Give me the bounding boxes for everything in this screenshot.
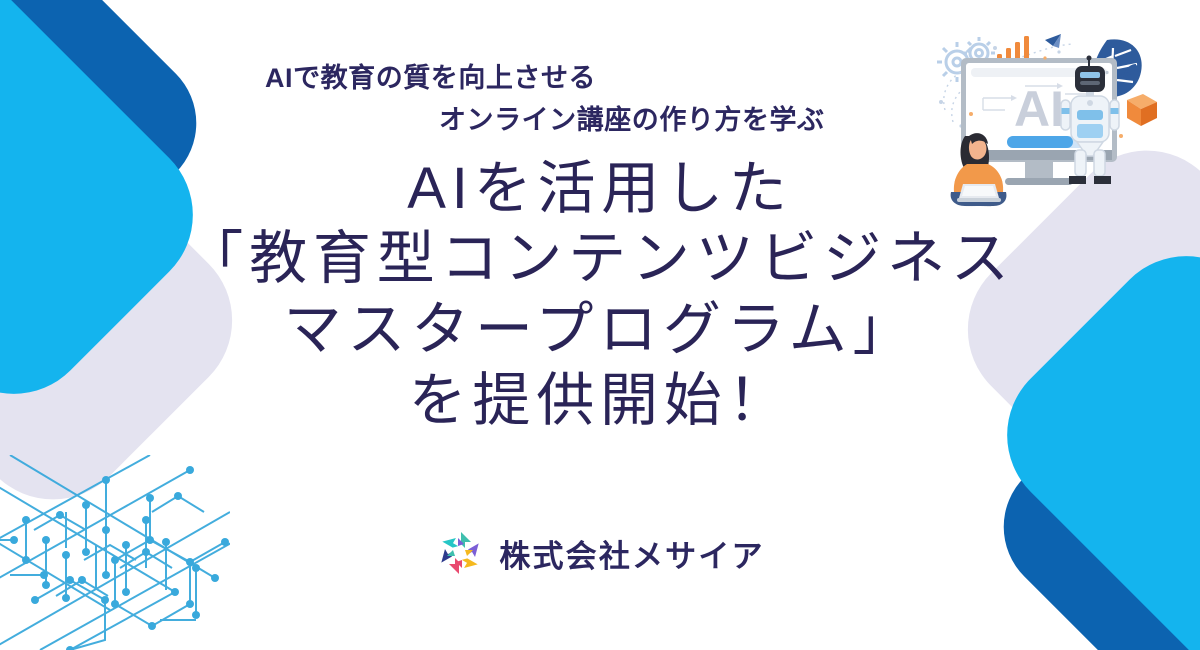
subtitle-line-2: オンライン講座の作り方を学ぶ — [259, 100, 959, 142]
title-line-1: AIを活用した — [20, 154, 1180, 225]
title-line-4: を提供開始！ — [20, 366, 1180, 437]
page-title: AIを活用した 「教育型コンテンツビジネス マスタープログラム」 を提供開始！ — [20, 154, 1180, 437]
pinwheel-logo-icon — [435, 528, 485, 578]
brand-lockup: 株式会社メサイア — [0, 528, 1200, 578]
title-line-3: マスタープログラム」 — [20, 295, 1180, 366]
announcement-banner: AI — [0, 0, 1200, 650]
title-line-2: 「教育型コンテンツビジネス — [20, 224, 1180, 295]
brand-name: 株式会社メサイア — [499, 531, 764, 576]
subtitle-line-1: AIで教育の質を向上させる — [259, 58, 959, 100]
subtitle: AIで教育の質を向上させる オンライン講座の作り方を学ぶ — [259, 58, 959, 142]
